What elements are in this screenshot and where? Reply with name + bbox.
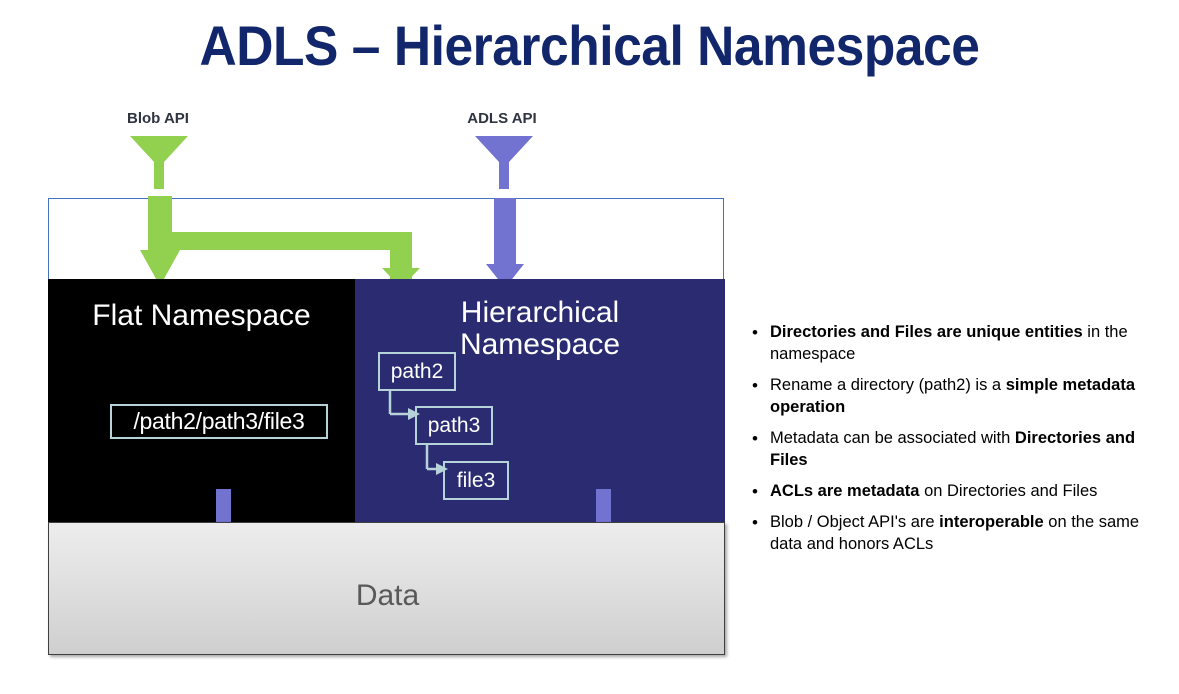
bullet-item: •Blob / Object API's are interoperable o… <box>752 512 1162 556</box>
bullet-item: •Rename a directory (path2) is a simple … <box>752 375 1162 419</box>
bullet-list: •Directories and Files are unique entiti… <box>752 322 1162 565</box>
bullet-plain: Metadata can be associated with <box>770 429 1015 447</box>
blob-api-label: Blob API <box>78 110 238 127</box>
bullet-plain: Rename a directory (path2) is a <box>770 376 1006 394</box>
blob-api-funnel-icon <box>128 134 190 190</box>
adls-api-label: ADLS API <box>422 110 582 127</box>
flat-namespace-title: Flat Namespace <box>48 300 355 332</box>
bullet-marker-icon: • <box>752 512 770 535</box>
bullet-text: Metadata can be associated with Director… <box>770 428 1162 472</box>
adls-api-flow-arrow <box>486 198 526 290</box>
bullet-item: •ACLs are metadata on Directories and Fi… <box>752 481 1162 504</box>
flat-namespace-panel: Flat Namespace <box>48 279 355 522</box>
bullet-text: Directories and Files are unique entitie… <box>770 322 1162 366</box>
bullet-marker-icon: • <box>752 428 770 451</box>
data-layer-label: Data <box>49 579 726 613</box>
data-layer-panel: Data <box>48 522 725 655</box>
adls-api-funnel-icon <box>473 134 535 190</box>
bullet-item: •Metadata can be associated with Directo… <box>752 428 1162 472</box>
tree-node-path2: path2 <box>378 352 456 391</box>
blob-api-flow-arrow <box>140 196 430 291</box>
tree-node-path3: path3 <box>415 406 493 445</box>
bullet-text: Blob / Object API's are interoperable on… <box>770 512 1162 556</box>
bullet-text: Rename a directory (path2) is a simple m… <box>770 375 1162 419</box>
slide-canvas: ADLS – Hierarchical Namespace Blob API A… <box>0 0 1179 694</box>
bullet-marker-icon: • <box>752 322 770 345</box>
page-title: ADLS – Hierarchical Namespace <box>47 18 1132 74</box>
bullet-emphasis: interoperable <box>939 513 1044 531</box>
bullet-text: ACLs are metadata on Directories and Fil… <box>770 481 1162 503</box>
bullet-marker-icon: • <box>752 375 770 398</box>
bullet-item: •Directories and Files are unique entiti… <box>752 322 1162 366</box>
tree-node-file3: file3 <box>443 461 509 500</box>
bullet-plain: on Directories and Files <box>919 482 1097 500</box>
bullet-plain: Blob / Object API's are <box>770 513 939 531</box>
bullet-marker-icon: • <box>752 481 770 504</box>
bullet-emphasis: ACLs are metadata <box>770 482 919 500</box>
bullet-emphasis: Directories and Files are unique entitie… <box>770 323 1083 341</box>
flat-path-chip: /path2/path3/file3 <box>110 404 328 439</box>
